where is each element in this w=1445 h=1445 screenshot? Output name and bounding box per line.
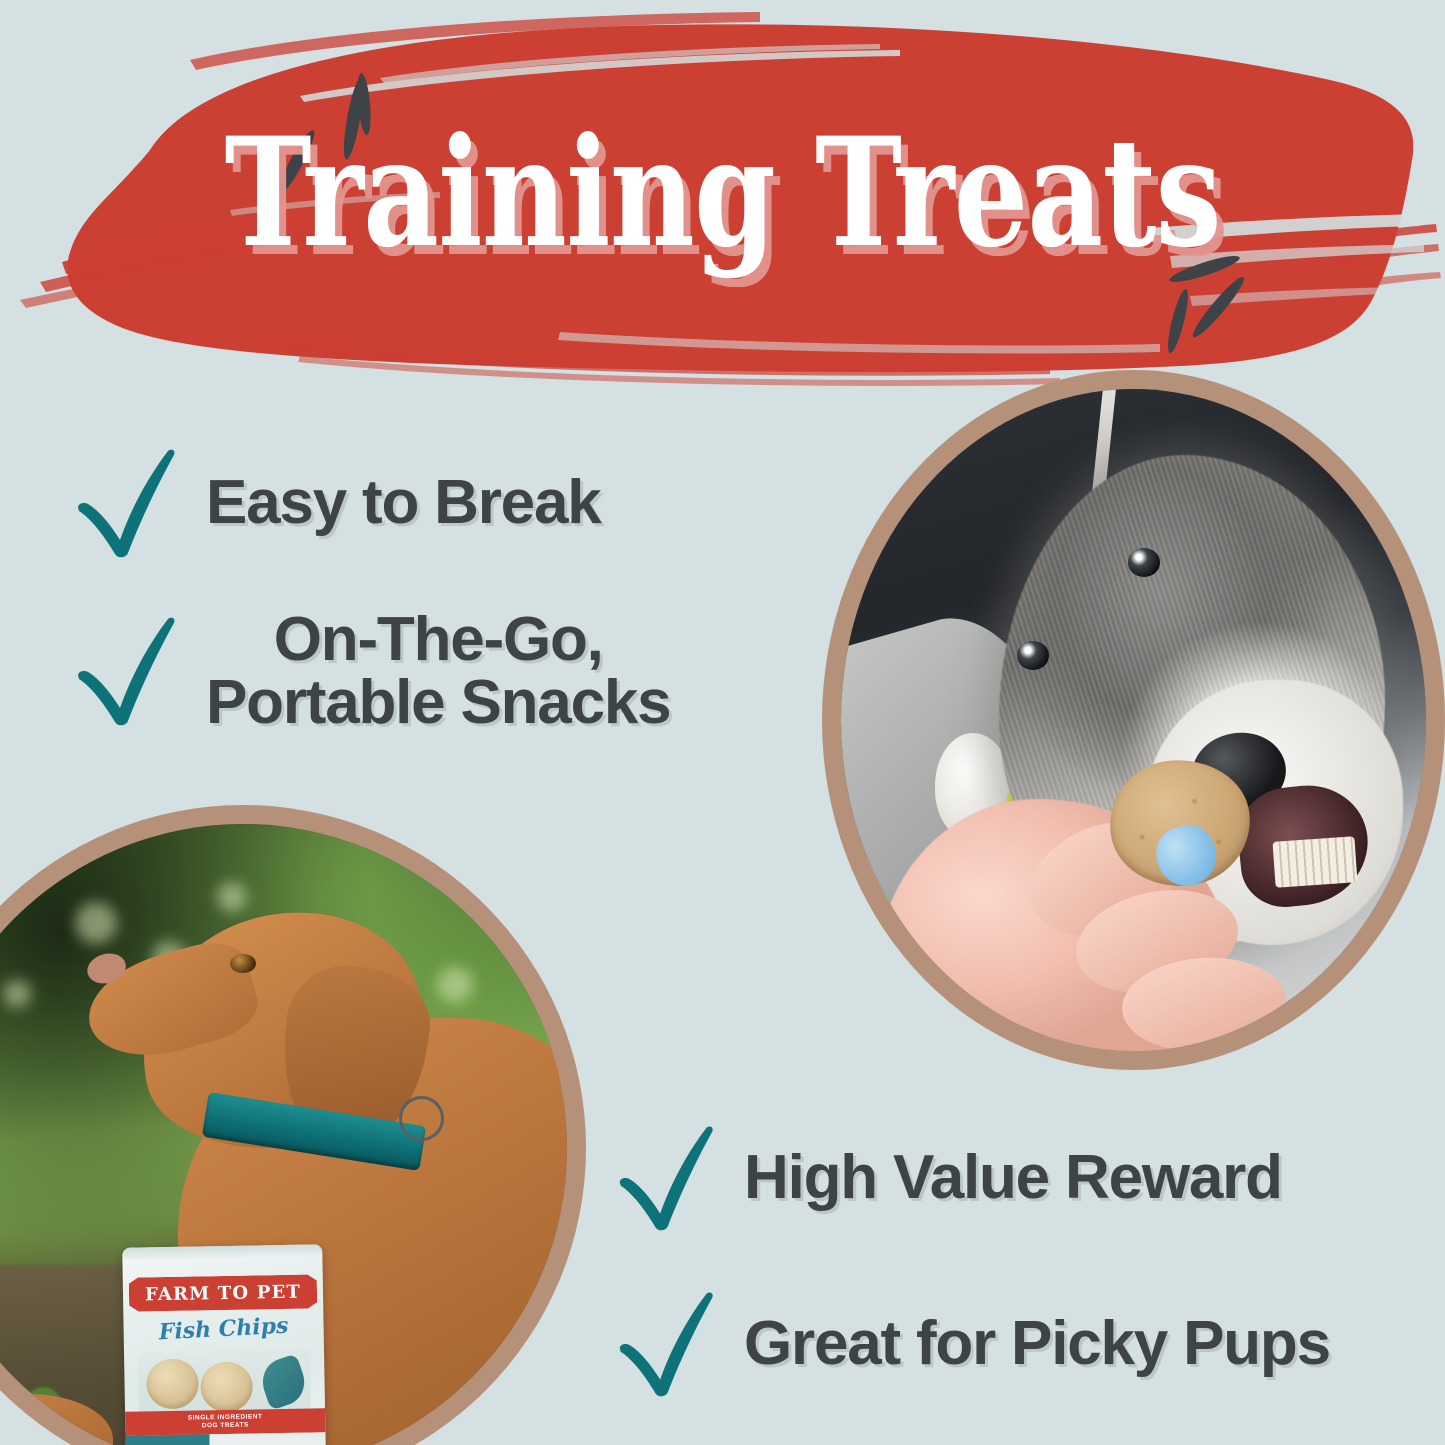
bokeh-light [75, 902, 117, 944]
feature-label: Great for Picky Pups [744, 1312, 1330, 1375]
feature-label: High Value Reward [744, 1146, 1282, 1209]
training-treats-poster: Training Treats [0, 0, 1445, 1445]
vizsla-eye [230, 954, 256, 973]
feature-label-line: On-The-Go, [206, 608, 670, 671]
bokeh-light [3, 980, 31, 1008]
feature-label-line: Portable Snacks [206, 671, 670, 734]
feature-label-line: High Value Reward [744, 1146, 1282, 1209]
bokeh-light [437, 967, 473, 1003]
package-brand-banner: FARM TO PET [129, 1274, 318, 1311]
feature-label-line: Easy to Break [206, 471, 601, 534]
check-icon [70, 447, 180, 559]
fish-chip-treat [200, 1362, 253, 1413]
photo-dog-taking-treat [822, 370, 1445, 1070]
fish-illustration-icon [256, 1353, 311, 1410]
fish-chip-treat [146, 1358, 199, 1409]
package-brand-name: FARM TO PET [145, 1281, 301, 1305]
check-icon [612, 1124, 718, 1232]
feature-item-high-value-reward: High Value Reward [612, 1124, 1282, 1232]
check-icon [612, 1290, 718, 1398]
feature-label-line: Great for Picky Pups [744, 1312, 1330, 1375]
package-footer-band: SINGLE INGREDIENT DOG TREATS [125, 1408, 325, 1436]
check-icon [70, 615, 180, 727]
package-top-seal [122, 1244, 322, 1259]
terrier-teeth [1272, 836, 1357, 888]
package-flavor-name: Fish Chips [123, 1311, 324, 1347]
feature-item-easy-to-break: Easy to Break [70, 447, 601, 559]
header-banner: Training Treats [0, 0, 1445, 400]
terrier-eye [1128, 548, 1161, 577]
photo-dog-taking-treat-image [841, 389, 1426, 1051]
terrier-eye [1017, 641, 1050, 670]
feature-label: Easy to Break [206, 471, 601, 534]
feature-label: On-The-Go, Portable Snacks [206, 608, 670, 734]
red-brushstroke-shape [0, 0, 1445, 400]
product-package: FARM TO PET Fish Chips SINGLE INGREDIENT… [122, 1244, 326, 1445]
feature-item-on-the-go: On-The-Go, Portable Snacks [70, 608, 670, 734]
feature-item-great-for-picky-pups: Great for Picky Pups [612, 1290, 1330, 1398]
